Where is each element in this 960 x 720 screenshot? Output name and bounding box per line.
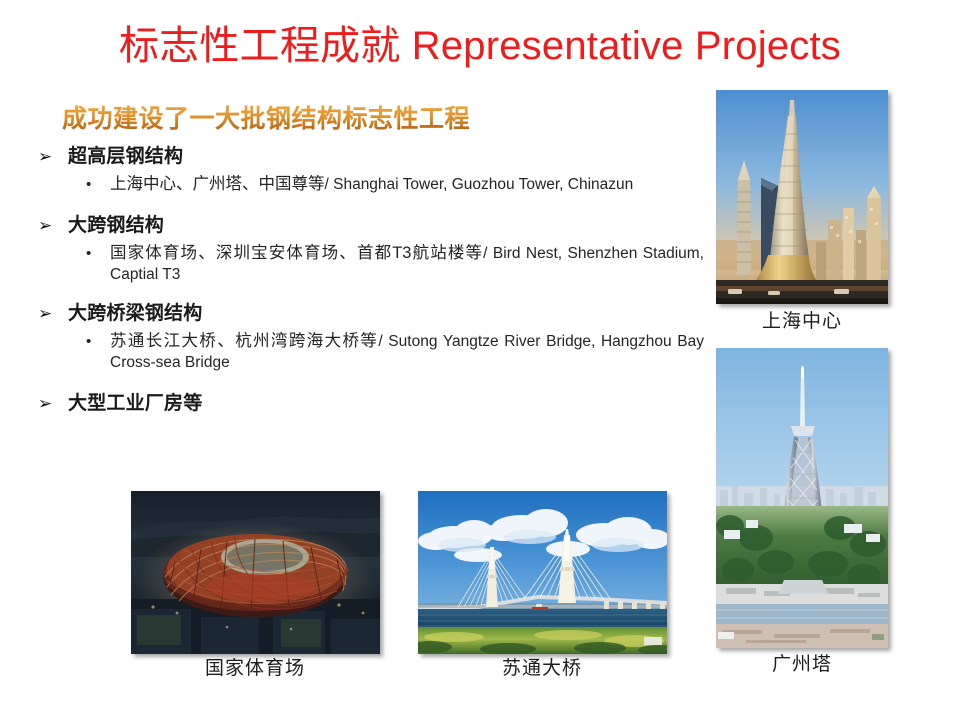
slide-canvas: 标志性工程成就 Representative Projects 成功建设了一大批… [0,0,960,720]
arrow-bullet-icon: ➢ [38,144,52,170]
dot-bullet-icon: • [86,243,91,264]
sutong-bridge-photo [418,491,667,654]
page-title-chinese: 标志性工程成就 [119,24,400,68]
bullet-level1-label: 大型工业厂房等 [68,393,202,414]
bullet-level2-chinese: 苏通长江大桥、杭州湾跨海大桥等 [110,332,378,350]
bullet-level2-item: •上海中心、广州塔、中国尊等/ Shanghai Tower, Guozhou … [24,174,704,195]
bullet-level2-chinese: 国家体育场、深圳宝安体育场、首都T3航站楼等 [110,244,483,262]
subtitle-wordart: 成功建设了一大批钢结构标志性工程 [62,103,470,135]
sutong-bridge-caption: 苏通大桥 [413,657,671,681]
arrow-bullet-icon: ➢ [38,301,52,327]
page-title-english: Representative Projects [400,24,841,68]
bullet-level1-label: 超高层钢结构 [68,146,183,167]
dot-bullet-icon: • [86,174,91,195]
bullet-level2-chinese: 上海中心、广州塔、中国尊等 [110,175,325,193]
bullet-level2-english: / Shanghai Tower, Guozhou Tower, Chinazu… [325,176,634,193]
arrow-bullet-icon: ➢ [38,213,52,239]
arrow-bullet-icon: ➢ [38,391,52,417]
shanghai-tower-caption: 上海中心 [696,310,908,334]
dot-bullet-icon: • [86,331,91,352]
bullet-level1-label: 大跨钢结构 [68,215,164,236]
bullet-level1-item: ➢ 大跨钢结构 [24,213,704,239]
canton-tower-caption: 广州塔 [696,653,908,677]
bullet-list: ➢ 超高层钢结构 •上海中心、广州塔、中国尊等/ Shanghai Tower,… [24,144,704,419]
bullet-level1-item: ➢ 大型工业厂房等 [24,391,704,417]
bullet-level2-item: •国家体育场、深圳宝安体育场、首都T3航站楼等/ Bird Nest, Shen… [24,243,704,285]
bullet-level1-item: ➢ 超高层钢结构 [24,144,704,170]
shanghai-tower-photo [716,90,888,304]
bullet-level2-item: •苏通长江大桥、杭州湾跨海大桥等/ Sutong Yangtze River B… [24,331,704,373]
bullet-level1-label: 大跨桥梁钢结构 [68,303,202,324]
page-title: 标志性工程成就 Representative Projects [0,22,960,70]
canton-tower-photo [716,348,888,648]
bullet-level1-item: ➢ 大跨桥梁钢结构 [24,301,704,327]
birds-nest-caption: 国家体育场 [126,657,384,681]
birds-nest-stadium-photo [131,491,380,654]
